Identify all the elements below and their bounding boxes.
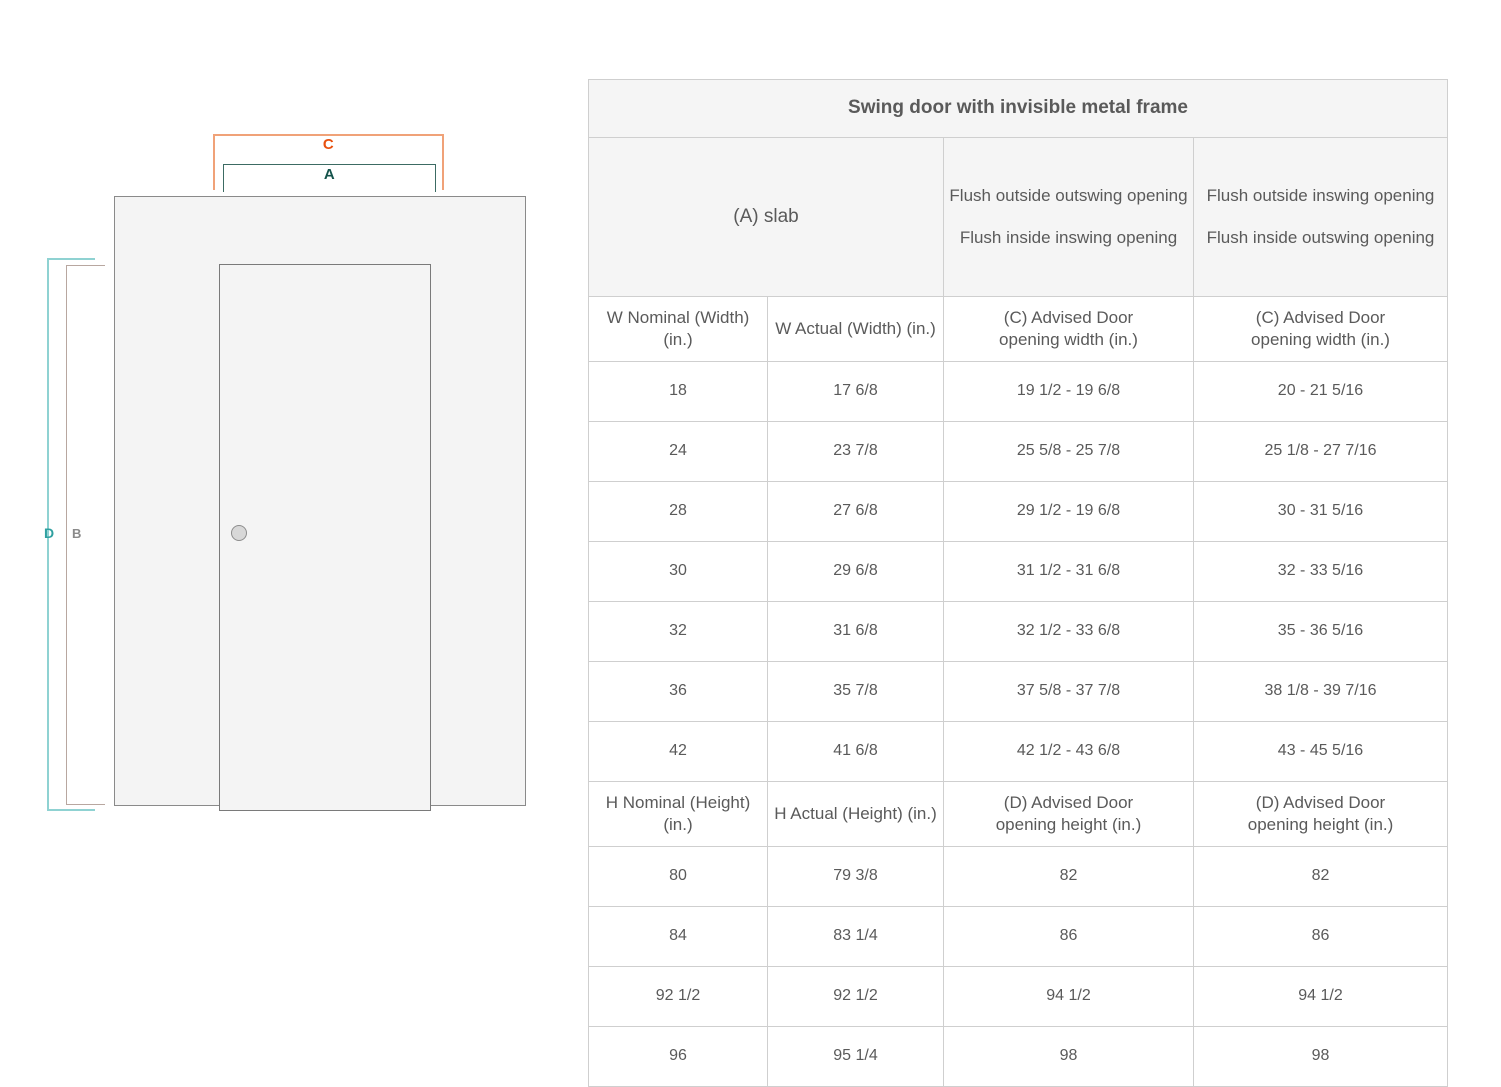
cell-actual: 92 1/2 [768,967,944,1027]
width-header-actual: W Actual (Width) (in.) [768,297,944,362]
cell-nominal: 32 [589,602,768,662]
cell-advised-outswing: 42 1/2 - 43 6/8 [944,722,1194,782]
width-rows-body: 1817 6/819 1/2 - 19 6/820 - 21 5/162423 … [589,362,1448,782]
table-row: 8483 1/48686 [589,907,1448,967]
group-header-row: (A) slab Flush outside outswing opening … [589,138,1448,297]
cell-nominal: 28 [589,482,768,542]
table-row: 2827 6/829 1/2 - 19 6/830 - 31 5/16 [589,482,1448,542]
table-row: 3231 6/832 1/2 - 33 6/835 - 36 5/16 [589,602,1448,662]
table-title-row: Swing door with invisible metal frame [589,80,1448,138]
width-header-advised-outswing: (C) Advised Door opening width (in.) [944,297,1194,362]
cell-nominal: 92 1/2 [589,967,768,1027]
cell-advised-inswing: 82 [1194,847,1448,907]
cell-actual: 17 6/8 [768,362,944,422]
dimension-label-d: D [44,525,55,541]
cell-nominal: 96 [589,1027,768,1087]
cell-advised-inswing: 20 - 21 5/16 [1194,362,1448,422]
height-header-advised-inswing-line2: opening height (in.) [1198,814,1443,836]
dimension-label-b: B [72,526,82,541]
cell-advised-inswing: 86 [1194,907,1448,967]
cell-actual: 23 7/8 [768,422,944,482]
height-header-nominal: H Nominal (Height) (in.) [589,782,768,847]
width-column-header-row: W Nominal (Width) (in.) W Actual (Width)… [589,297,1448,362]
height-header-advised-outswing: (D) Advised Door opening height (in.) [944,782,1194,847]
group-header-inswing: Flush outside inswing opening Flush insi… [1194,138,1448,297]
cell-actual: 95 1/4 [768,1027,944,1087]
cell-advised-outswing: 86 [944,907,1194,967]
width-header-nominal: W Nominal (Width) (in.) [589,297,768,362]
table-row: 8079 3/88282 [589,847,1448,907]
table-row: 3635 7/837 5/8 - 37 7/838 1/8 - 39 7/16 [589,662,1448,722]
cell-actual: 79 3/8 [768,847,944,907]
cell-advised-inswing: 25 1/8 - 27 7/16 [1194,422,1448,482]
group-header-slab: (A) slab [589,138,944,297]
cell-advised-inswing: 32 - 33 5/16 [1194,542,1448,602]
height-header-advised-outswing-line1: (D) Advised Door [948,792,1189,814]
width-header-advised-inswing-line1: (C) Advised Door [1198,307,1443,329]
height-header-actual: H Actual (Height) (in.) [768,782,944,847]
cell-advised-inswing: 94 1/2 [1194,967,1448,1027]
group-header-inswing-line1: Flush outside inswing opening [1198,185,1443,207]
height-column-header-row: H Nominal (Height) (in.) H Actual (Heigh… [589,782,1448,847]
group-header-outswing: Flush outside outswing opening Flush ins… [944,138,1194,297]
cell-nominal: 80 [589,847,768,907]
cell-nominal: 84 [589,907,768,967]
cell-actual: 27 6/8 [768,482,944,542]
cell-actual: 31 6/8 [768,602,944,662]
cell-advised-outswing: 31 1/2 - 31 6/8 [944,542,1194,602]
dimension-label-a: A [223,166,436,183]
table-row: 9695 1/49898 [589,1027,1448,1087]
cell-advised-inswing: 38 1/8 - 39 7/16 [1194,662,1448,722]
width-header-advised-outswing-line2: opening width (in.) [948,329,1189,351]
cell-advised-outswing: 25 5/8 - 25 7/8 [944,422,1194,482]
cell-nominal: 18 [589,362,768,422]
table-title: Swing door with invisible metal frame [589,80,1448,138]
table-row: 2423 7/825 5/8 - 25 7/825 1/8 - 27 7/16 [589,422,1448,482]
group-header-outswing-line2: Flush inside inswing opening [948,227,1189,249]
cell-actual: 29 6/8 [768,542,944,602]
cell-advised-inswing: 30 - 31 5/16 [1194,482,1448,542]
door-size-table: Swing door with invisible metal frame (A… [588,79,1448,1087]
cell-advised-inswing: 98 [1194,1027,1448,1087]
cell-advised-inswing: 35 - 36 5/16 [1194,602,1448,662]
table-row: 3029 6/831 1/2 - 31 6/832 - 33 5/16 [589,542,1448,602]
cell-advised-outswing: 32 1/2 - 33 6/8 [944,602,1194,662]
height-header-advised-inswing: (D) Advised Door opening height (in.) [1194,782,1448,847]
door-diagram: C A D B [0,0,570,1000]
cell-actual: 35 7/8 [768,662,944,722]
height-header-advised-outswing-line2: opening height (in.) [948,814,1189,836]
cell-advised-outswing: 98 [944,1027,1194,1087]
cell-actual: 83 1/4 [768,907,944,967]
cell-advised-outswing: 37 5/8 - 37 7/8 [944,662,1194,722]
table-row: 1817 6/819 1/2 - 19 6/820 - 21 5/16 [589,362,1448,422]
width-header-advised-inswing: (C) Advised Door opening width (in.) [1194,297,1448,362]
cell-advised-outswing: 19 1/2 - 19 6/8 [944,362,1194,422]
width-header-advised-inswing-line2: opening width (in.) [1198,329,1443,351]
table-row: 92 1/292 1/294 1/294 1/2 [589,967,1448,1027]
door-slab [219,264,431,811]
table-row: 4241 6/842 1/2 - 43 6/843 - 45 5/16 [589,722,1448,782]
cell-advised-inswing: 43 - 45 5/16 [1194,722,1448,782]
cell-nominal: 24 [589,422,768,482]
cell-nominal: 30 [589,542,768,602]
width-header-advised-outswing-line1: (C) Advised Door [948,307,1189,329]
group-header-inswing-line2: Flush inside outswing opening [1198,227,1443,249]
cell-nominal: 42 [589,722,768,782]
cell-advised-outswing: 29 1/2 - 19 6/8 [944,482,1194,542]
cell-advised-outswing: 94 1/2 [944,967,1194,1027]
height-rows-body: 8079 3/882828483 1/4868692 1/292 1/294 1… [589,847,1448,1087]
height-header-advised-inswing-line1: (D) Advised Door [1198,792,1443,814]
door-handle-icon [231,525,247,541]
group-header-outswing-line1: Flush outside outswing opening [948,185,1189,207]
dimension-label-c: C [213,136,444,153]
cell-actual: 41 6/8 [768,722,944,782]
cell-advised-outswing: 82 [944,847,1194,907]
cell-nominal: 36 [589,662,768,722]
